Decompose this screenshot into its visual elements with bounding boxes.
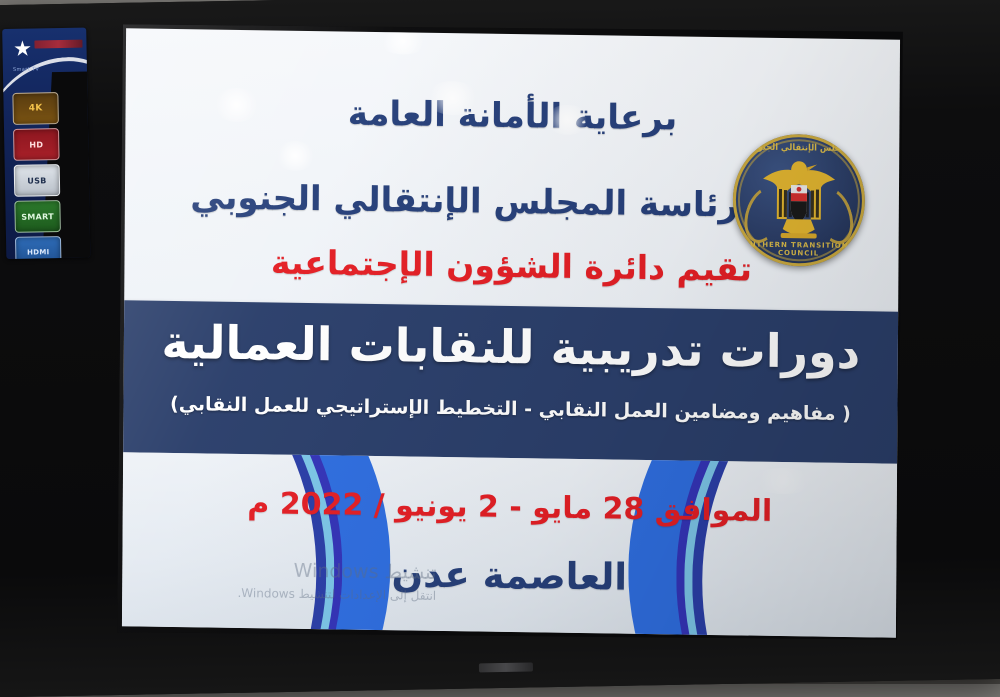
tv-screen: برعاية الأمانة العامة لهيئة رئاسة المجلس… [117, 24, 903, 639]
badge-hd: HD [13, 128, 60, 161]
slide-footer: الموافق 28 مايو - 2 يونيو / 2022 م العاص… [122, 452, 897, 637]
slide-header: برعاية الأمانة العامة لهيئة رئاسة المجلس… [124, 28, 900, 307]
sticker-subtext: Smart TV [13, 66, 39, 72]
presentation-slide: برعاية الأمانة العامة لهيئة رئاسة المجلس… [122, 28, 900, 637]
arc-left-navy [122, 452, 328, 637]
stc-emblem-icon: المجلس الإنتقالي الجنوبي SOUTHERN TRANSI… [732, 133, 865, 267]
slide-title-band: دورات تدريبية للنقابات العمالية ( مفاهيم… [123, 300, 898, 463]
star-icon: ★ [11, 38, 33, 60]
course-subtitle: ( مفاهيم ومضامين العمل النقابي - التخطيط… [123, 392, 897, 425]
arc-right-navy [690, 452, 897, 637]
eagle-icon [751, 157, 848, 244]
badge-4k: 4K [12, 92, 59, 125]
brand-wordmark [34, 40, 82, 49]
badge-usb: USB [14, 164, 61, 197]
patronage-line: برعاية الأمانة العامة [125, 90, 899, 141]
badge-hdmi: HDMI [15, 236, 62, 259]
emblem-arabic-text: المجلس الإنتقالي الجنوبي [739, 142, 861, 154]
tv-feature-sticker: ★ Smart TV 4K HD USB SMART HDMI [2, 28, 90, 260]
badge-smart: SMART [14, 200, 61, 233]
course-title: دورات تدريبية للنقابات العمالية [124, 314, 898, 379]
tv-brand-logo [479, 662, 533, 672]
